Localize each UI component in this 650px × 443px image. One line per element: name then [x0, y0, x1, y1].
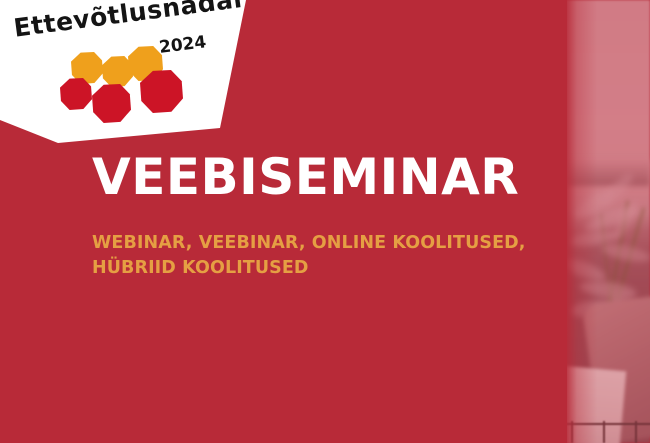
page-title: VEEBISEMINAR: [92, 152, 519, 202]
page-subtitle: WEBINAR, VEEBINAR, ONLINE KOOLITUSED, HÜ…: [92, 231, 572, 281]
webinar-banner: Ettevõtlusnädal 2024 VEEBISEMINAR WEBINA…: [0, 0, 650, 443]
red-heptagon-center: [92, 84, 131, 123]
background-photo: [565, 0, 650, 443]
photo-edge-blend: [565, 0, 650, 443]
red-heptagon-left: [60, 78, 92, 110]
logo-panel: Ettevõtlusnädal 2024: [0, 0, 250, 150]
